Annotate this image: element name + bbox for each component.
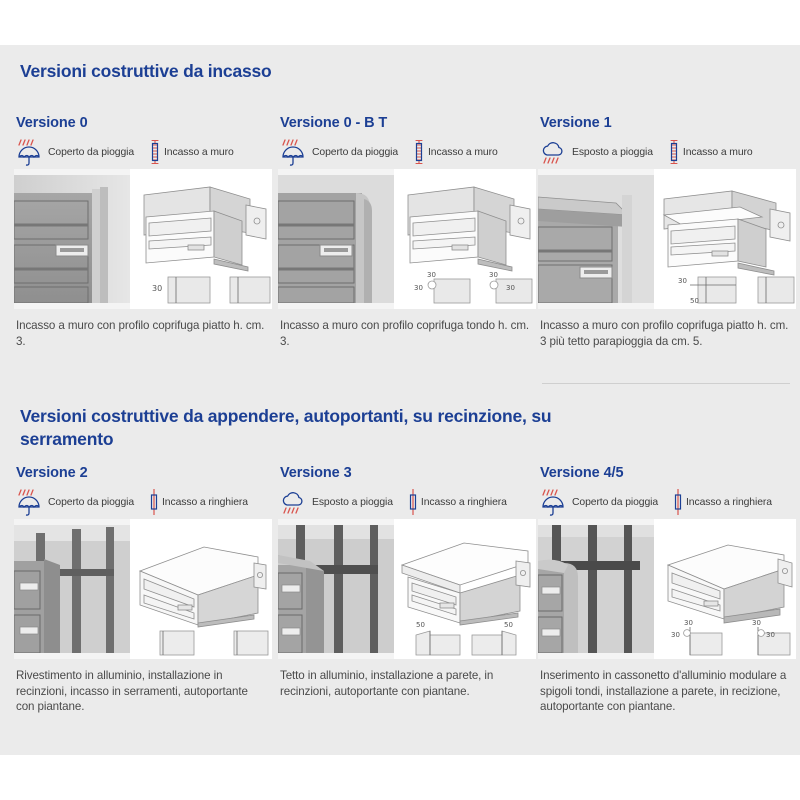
version-title: Versione 4/5 bbox=[540, 465, 796, 481]
version-card-versione-0-bt: Versione 0 - B T Coperto da pioggia bbox=[278, 115, 536, 349]
badge-row: Coperto da pioggia Incas bbox=[280, 137, 536, 167]
dimension-label: 30 bbox=[427, 271, 436, 279]
product-photo-mailbox-railing bbox=[538, 525, 654, 653]
wall-recess-icon bbox=[667, 138, 681, 166]
version-card-versione-3: Versione 3 Esposto a pioggia bbox=[278, 465, 536, 699]
badge-coperto-da-pioggia: Coperto da pioggia bbox=[16, 138, 134, 166]
version-title: Versione 2 bbox=[16, 465, 272, 481]
badge-row: Esposto a pioggia Incasso a ringhiera bbox=[280, 487, 536, 517]
dimension-label: 30 bbox=[152, 284, 162, 293]
version-card-versione-1: Versione 1 Esposto a pioggia bbox=[538, 115, 796, 349]
technical-drawing-versione-3: 50 50 bbox=[394, 519, 536, 659]
badge-label: Incasso a muro bbox=[428, 147, 498, 158]
product-image-plate: 30 30 30 30 bbox=[538, 519, 796, 659]
version-caption: Inserimento in cassonetto d'alluminio mo… bbox=[540, 668, 790, 715]
version-caption: Rivestimento in alluminio, installazione… bbox=[16, 668, 266, 715]
badge-label: Coperto da pioggia bbox=[572, 497, 658, 508]
section-heading-incasso: Versioni costruttive da incasso bbox=[20, 60, 272, 83]
badge-coperto-da-pioggia: Coperto da pioggia bbox=[16, 488, 134, 516]
badge-coperto-da-pioggia: Coperto da pioggia bbox=[280, 138, 398, 166]
badge-label: Esposto a pioggia bbox=[312, 497, 393, 508]
version-card-versione-4-5: Versione 4/5 Coperto da pioggia bbox=[538, 465, 796, 715]
badge-label: Esposto a pioggia bbox=[572, 147, 653, 158]
product-image-plate: 30 bbox=[14, 169, 272, 309]
version-title: Versione 0 bbox=[16, 115, 272, 131]
product-photo-mailbox bbox=[538, 175, 654, 303]
umbrella-rain-icon bbox=[280, 138, 310, 166]
badge-incasso-a-ringhiera: Incasso a ringhiera bbox=[672, 488, 772, 516]
product-photo-mailbox-railing bbox=[14, 525, 130, 653]
badge-incasso-a-muro: Incasso a muro bbox=[148, 138, 234, 166]
badge-label: Coperto da pioggia bbox=[312, 147, 398, 158]
technical-drawing-versione-0: 30 bbox=[130, 169, 272, 309]
product-photo-mailbox bbox=[14, 175, 130, 303]
wall-recess-icon bbox=[148, 138, 162, 166]
dimension-label: 50 bbox=[690, 297, 699, 305]
badge-label: Incasso a muro bbox=[683, 147, 753, 158]
badge-incasso-a-ringhiera: Incasso a ringhiera bbox=[407, 488, 507, 516]
catalog-page: Versioni costruttive da incasso Versione… bbox=[0, 45, 800, 755]
dimension-label: 30 bbox=[671, 631, 680, 639]
railing-recess-icon bbox=[672, 488, 684, 516]
version-title: Versione 0 - B T bbox=[280, 115, 536, 131]
railing-recess-icon bbox=[407, 488, 419, 516]
product-image-plate: 30 30 30 30 bbox=[278, 169, 536, 309]
umbrella-rain-icon bbox=[540, 488, 570, 516]
version-caption: Tetto in alluminio, installazione a pare… bbox=[280, 668, 530, 699]
badge-label: Incasso a ringhiera bbox=[686, 497, 772, 508]
product-photo-mailbox bbox=[278, 175, 394, 303]
dimension-label: 30 bbox=[752, 619, 761, 627]
badge-incasso-a-ringhiera: Incasso a ringhiera bbox=[148, 488, 248, 516]
badge-label: Incasso a ringhiera bbox=[162, 497, 248, 508]
badge-row: Coperto da pioggia Incas bbox=[16, 137, 272, 167]
badge-label: Incasso a muro bbox=[164, 147, 234, 158]
section-divider bbox=[542, 383, 790, 384]
dimension-label: 30 bbox=[506, 284, 515, 292]
badge-label: Incasso a ringhiera bbox=[421, 497, 507, 508]
dimension-label: 30 bbox=[678, 277, 687, 285]
version-title: Versione 1 bbox=[540, 115, 796, 131]
product-image-plate bbox=[14, 519, 272, 659]
dimension-label: 50 bbox=[416, 621, 425, 629]
dimension-label: 30 bbox=[414, 284, 423, 292]
section-heading-appendere: Versioni costruttive da appendere, autop… bbox=[20, 405, 560, 451]
product-photo-mailbox-railing bbox=[278, 525, 394, 653]
product-image-plate: 30 50 bbox=[538, 169, 796, 309]
technical-drawing-versione-1: 30 50 bbox=[654, 169, 796, 309]
technical-drawing-versione-4-5: 30 30 30 30 bbox=[654, 519, 796, 659]
version-card-versione-0: Versione 0 Coperto da pioggia bbox=[14, 115, 272, 349]
badge-label: Coperto da pioggia bbox=[48, 147, 134, 158]
badge-incasso-a-muro: Incasso a muro bbox=[412, 138, 498, 166]
umbrella-rain-icon bbox=[16, 488, 46, 516]
dimension-label: 30 bbox=[684, 619, 693, 627]
version-title: Versione 3 bbox=[280, 465, 536, 481]
badge-label: Coperto da pioggia bbox=[48, 497, 134, 508]
technical-drawing-versione-2 bbox=[130, 519, 272, 659]
dimension-label: 30 bbox=[489, 271, 498, 279]
dimension-label: 30 bbox=[766, 631, 775, 639]
badge-coperto-da-pioggia: Coperto da pioggia bbox=[540, 488, 658, 516]
version-caption: Incasso a muro con profilo coprifuga ton… bbox=[280, 318, 530, 349]
badge-row: Coperto da pioggia Incasso a ringhiera bbox=[16, 487, 272, 517]
product-image-plate: 50 50 bbox=[278, 519, 536, 659]
umbrella-rain-icon bbox=[16, 138, 46, 166]
cloud-rain-icon bbox=[540, 138, 570, 166]
badge-esposto-a-pioggia: Esposto a pioggia bbox=[280, 488, 393, 516]
badge-esposto-a-pioggia: Esposto a pioggia bbox=[540, 138, 653, 166]
version-caption: Incasso a muro con profilo coprifuga pia… bbox=[16, 318, 266, 349]
cloud-rain-icon bbox=[280, 488, 310, 516]
dimension-label: 50 bbox=[504, 621, 513, 629]
version-caption: Incasso a muro con profilo coprifuga pia… bbox=[540, 318, 790, 349]
wall-recess-icon bbox=[412, 138, 426, 166]
badge-incasso-a-muro: Incasso a muro bbox=[667, 138, 753, 166]
badge-row: Coperto da pioggia Incasso a ringhiera bbox=[540, 487, 796, 517]
badge-row: Esposto a pioggia Incass bbox=[540, 137, 796, 167]
technical-drawing-versione-0-bt: 30 30 30 30 bbox=[394, 169, 536, 309]
railing-recess-icon bbox=[148, 488, 160, 516]
version-card-versione-2: Versione 2 Coperto da pioggia bbox=[14, 465, 272, 715]
